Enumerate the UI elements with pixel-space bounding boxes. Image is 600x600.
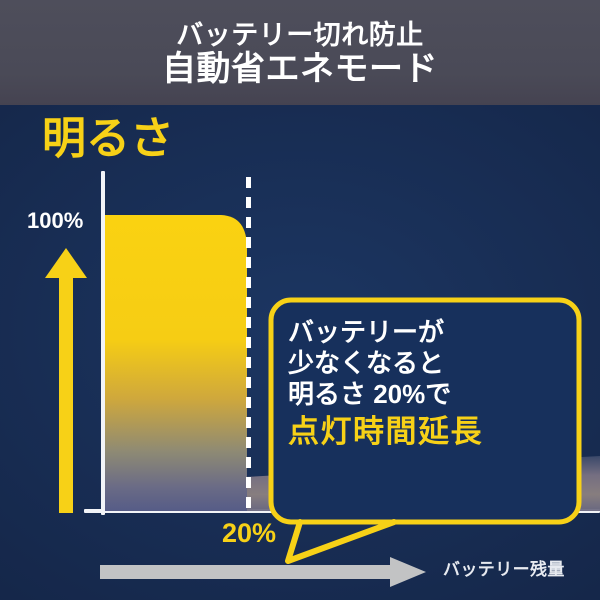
arrow-up-icon [44, 248, 88, 513]
brightness-chart: 明るさ 100% [0, 105, 600, 600]
callout-line-3: 明るさ 20%で [288, 379, 564, 410]
header-banner: バッテリー切れ防止 自動省エネモード [0, 0, 600, 105]
header-title: 自動省エネモード [162, 50, 438, 88]
header-subtitle: バッテリー切れ防止 [176, 21, 424, 50]
callout-text: バッテリーが 少なくなると 明るさ 20%で 点灯時間延長 [288, 317, 564, 450]
callout-line-2: 少なくなると [288, 348, 564, 379]
y-axis-tick-100: 100% [27, 210, 83, 232]
callout-bubble: バッテリーが 少なくなると 明るさ 20%で 点灯時間延長 [266, 295, 584, 565]
threshold-dashed-line [246, 177, 251, 513]
infographic-canvas: バッテリー切れ防止 自動省エネモード 明るさ 100% [0, 0, 600, 600]
y-axis-title: 明るさ [42, 117, 174, 161]
callout-accent-line: 点灯時間延長 [288, 413, 564, 450]
callout-line-1: バッテリーが [288, 317, 564, 348]
